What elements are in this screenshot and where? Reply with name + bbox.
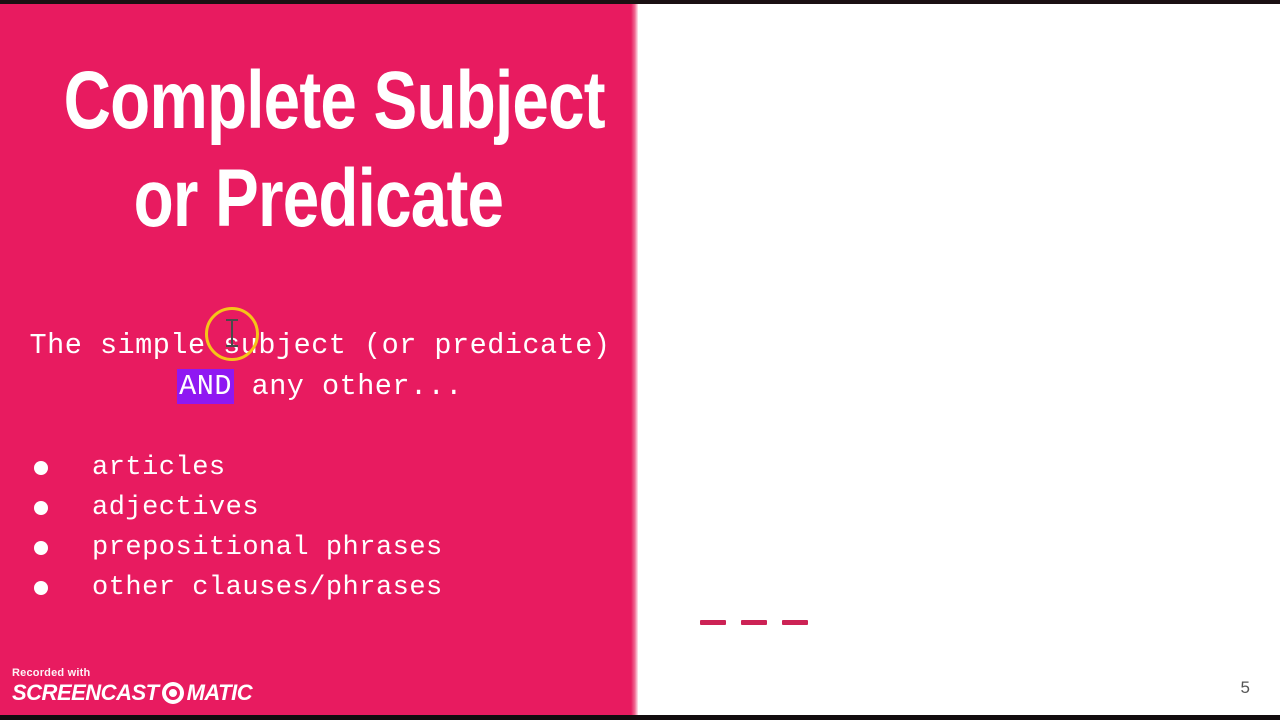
screencast-o-matic-watermark: Recorded with SCREENCAST MATIC — [12, 667, 252, 706]
left-bullet-list: articles adjectives prepositional phrase… — [34, 448, 443, 608]
divider-dash — [782, 620, 808, 625]
left-bullet-label: other clauses/phrases — [92, 573, 443, 603]
list-item: prepositional phrases — [34, 528, 443, 568]
slide-title-line-2: or Predicate — [64, 150, 574, 248]
lead-text-before: The simple subject (or predicate) — [30, 329, 611, 362]
left-bullet-label: articles — [92, 453, 226, 483]
bullet-dot-icon — [34, 541, 48, 555]
divider-dash — [700, 620, 726, 625]
ibeam-stem — [231, 320, 233, 346]
left-bullet-label: adjectives — [92, 493, 259, 523]
bullet-dot-icon — [34, 461, 48, 475]
left-bullet-label: prepositional phrases — [92, 533, 443, 563]
bullet-dot-icon — [34, 501, 48, 515]
watermark-brand-right: MATIC — [187, 680, 253, 706]
bullet-dot-icon — [34, 581, 48, 595]
ibeam-bottom-serif — [226, 345, 238, 347]
list-item: articles — [34, 448, 443, 488]
lead-definition-text: The simple subject (or predicate) AND an… — [28, 325, 612, 407]
slide-title-line-1: Complete Subject — [64, 52, 574, 150]
video-frame-bottom-edge — [0, 715, 1280, 720]
right-white-panel — [638, 0, 1280, 720]
slide-canvas: Complete Subject or Predicate The simple… — [0, 0, 1280, 720]
text-cursor-ibeam-icon — [226, 318, 238, 348]
watermark-brand: SCREENCAST MATIC — [12, 680, 252, 706]
list-item: other clauses/phrases — [34, 568, 443, 608]
target-circle-icon — [162, 682, 184, 704]
lead-text-highlight-and: AND — [177, 369, 234, 404]
panel-divider-edge — [631, 0, 638, 720]
divider-dash — [741, 620, 767, 625]
slide-title: Complete Subject or Predicate — [64, 52, 574, 248]
video-frame-top-edge — [0, 0, 1280, 4]
watermark-brand-left: SCREENCAST — [12, 680, 159, 706]
page-number: 5 — [1241, 678, 1250, 698]
list-item: adjectives — [34, 488, 443, 528]
dashed-divider — [700, 620, 808, 625]
lead-text-after: any other... — [234, 370, 463, 403]
watermark-recorded-with-label: Recorded with — [12, 667, 252, 679]
